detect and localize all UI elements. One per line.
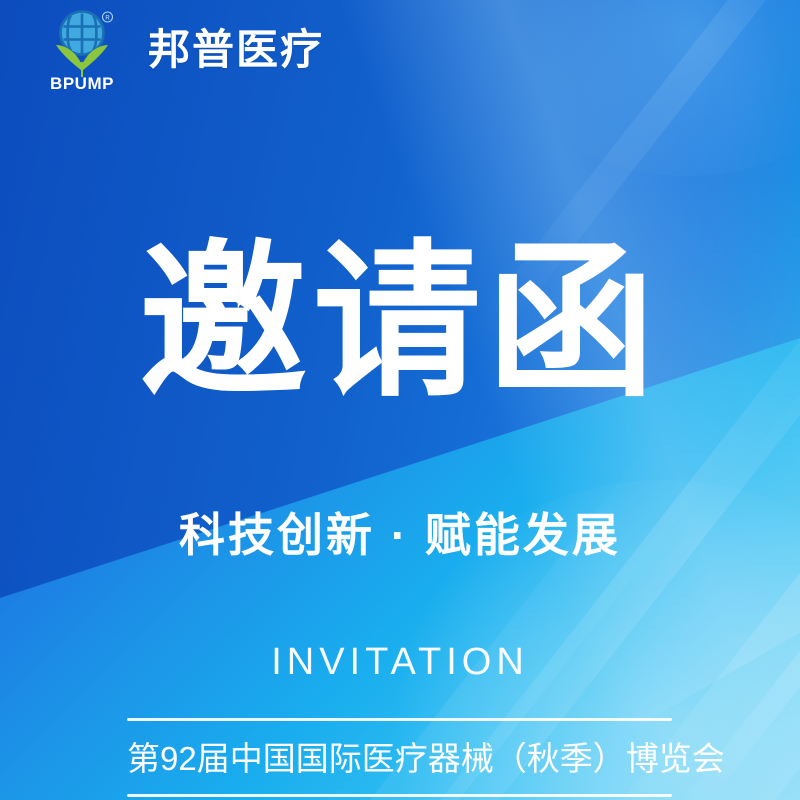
bpump-logo-icon: R BPUMP xyxy=(44,9,130,91)
poster-subtitle: 科技创新 · 赋能发展 xyxy=(0,508,800,563)
poster-header: R BPUMP 邦普医疗 xyxy=(0,0,800,100)
brand-name: 邦普医疗 xyxy=(148,29,324,71)
svg-text:BPUMP: BPUMP xyxy=(50,74,114,91)
event-name: 第92届中国国际医疗器械（秋季）博览会 xyxy=(127,721,672,794)
svg-text:R: R xyxy=(105,16,110,22)
invitation-english: INVITATION xyxy=(0,640,800,686)
poster-content: 邀请函 科技创新 · 赋能发展 INVITATION xyxy=(0,0,800,800)
poster-footer: 第92届中国国际医疗器械（秋季）博览会 xyxy=(127,718,672,797)
footer-divider-bottom xyxy=(127,794,672,797)
page-title: 邀请函 xyxy=(0,238,800,406)
invitation-poster: R BPUMP 邦普医疗 邀请函 科技创新 · 赋能发展 INVITATION … xyxy=(0,0,800,800)
